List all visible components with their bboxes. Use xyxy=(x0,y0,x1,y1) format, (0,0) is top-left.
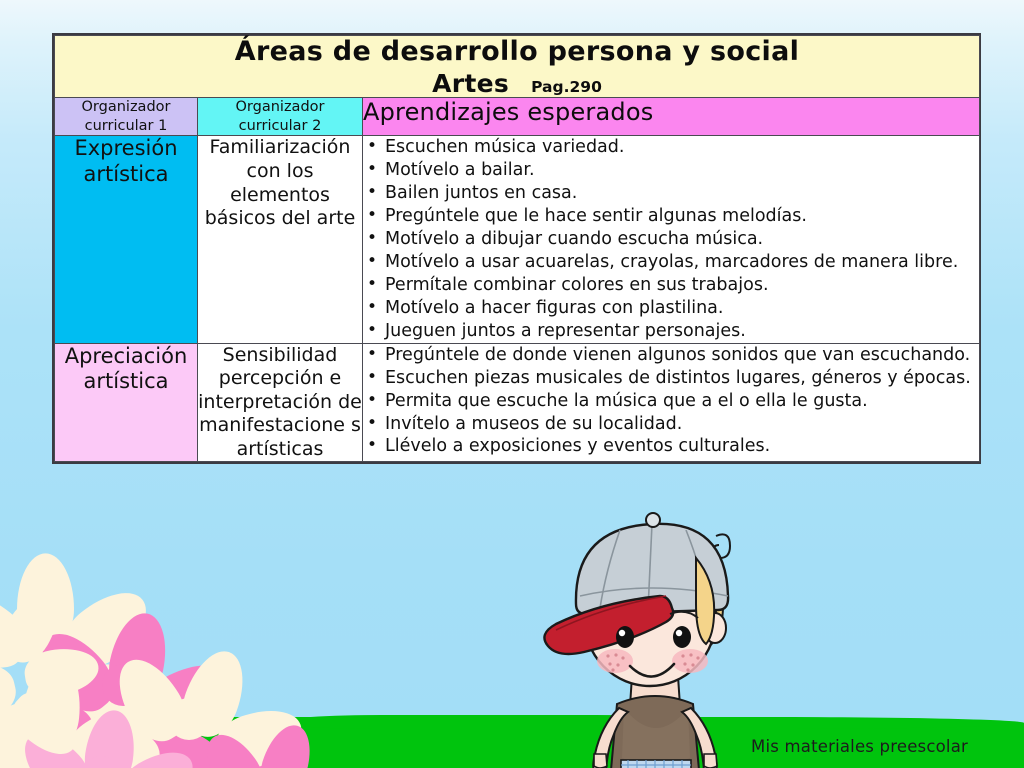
flower-pink-2 xyxy=(208,724,326,768)
row2-aprendizajes-list: Pregúntele de donde vienen algunos sonid… xyxy=(363,344,979,459)
list-item: Invítelo a museos de su localidad. xyxy=(363,413,979,436)
header-org1-line1: Organizador xyxy=(55,98,197,117)
subject-name: Artes xyxy=(432,69,509,98)
list-item: Permítale combinar colores en sus trabaj… xyxy=(363,274,979,297)
row2-organizador-curricular-1: Apreciación artística xyxy=(55,343,198,462)
header-organizador-curricular-1: Organizador curricular 1 xyxy=(55,98,198,136)
row1-organizador-curricular-1: Expresión artística xyxy=(55,136,198,343)
list-item: Pregúntele de donde vienen algunos sonid… xyxy=(363,344,979,367)
row2-aprendizajes-cell: Pregúntele de donde vienen algunos sonid… xyxy=(363,343,980,462)
table-title-row: Áreas de desarrollo persona y social Art… xyxy=(55,36,980,98)
list-item: Motívelo a dibujar cuando escucha música… xyxy=(363,228,979,251)
watermark-credit: Mis materiales preescolar xyxy=(751,737,968,756)
list-item: Escuchen piezas musicales de distintos l… xyxy=(363,367,979,390)
header-org2-line1: Organizador xyxy=(198,98,362,117)
table-row: Expresión artística Familiarización con … xyxy=(55,136,980,343)
table-row: Apreciación artística Sensibilidad perce… xyxy=(55,343,980,462)
row2-organizador-curricular-2: Sensibilidad percepción e interpretación… xyxy=(198,343,363,462)
row2-category-line1: Apreciación xyxy=(55,344,197,370)
header-organizador-curricular-2: Organizador curricular 2 xyxy=(198,98,363,136)
header-org1-line2: curricular 1 xyxy=(55,117,197,136)
row2-category-line2: artística xyxy=(55,369,197,395)
page-reference: Pag.290 xyxy=(531,78,602,96)
header-aprendizajes-esperados: Aprendizajes esperados xyxy=(363,98,980,136)
row1-organizador-curricular-2: Familiarización con los elementos básico… xyxy=(198,136,363,343)
title-cell: Áreas de desarrollo persona y social Art… xyxy=(55,36,980,98)
list-item: Motívelo a bailar. xyxy=(363,159,979,182)
row1-category-line2: artística xyxy=(55,162,197,188)
curriculum-table: Áreas de desarrollo persona y social Art… xyxy=(52,33,981,464)
list-item: Motívelo a hacer figuras con plastilina. xyxy=(363,297,979,320)
subject-line: ArtesPag.290 xyxy=(55,70,979,98)
boy-character-illustration xyxy=(520,498,790,768)
list-item: Llévelo a exposiciones y eventos cultura… xyxy=(363,435,979,458)
header-org2-line2: curricular 2 xyxy=(198,117,362,136)
list-item: Jueguen juntos a representar personajes. xyxy=(363,320,979,343)
row1-aprendizajes-cell: Escuchen música variedad. Motívelo a bai… xyxy=(363,136,980,343)
row1-category-line1: Expresión xyxy=(55,136,197,162)
list-item: Permita que escuche la música que a el o… xyxy=(363,390,979,413)
list-item: Escuchen música variedad. xyxy=(363,136,979,159)
list-item: Pregúntele que le hace sentir algunas me… xyxy=(363,205,979,228)
table-header-row: Organizador curricular 1 Organizador cur… xyxy=(55,98,980,136)
list-item: Motívelo a usar acuarelas, crayolas, mar… xyxy=(363,251,979,274)
row1-aprendizajes-list: Escuchen música variedad. Motívelo a bai… xyxy=(363,136,979,342)
list-item: Bailen juntos en casa. xyxy=(363,182,979,205)
flower-cream-4 xyxy=(0,584,60,704)
page-title: Áreas de desarrollo persona y social xyxy=(55,36,979,68)
